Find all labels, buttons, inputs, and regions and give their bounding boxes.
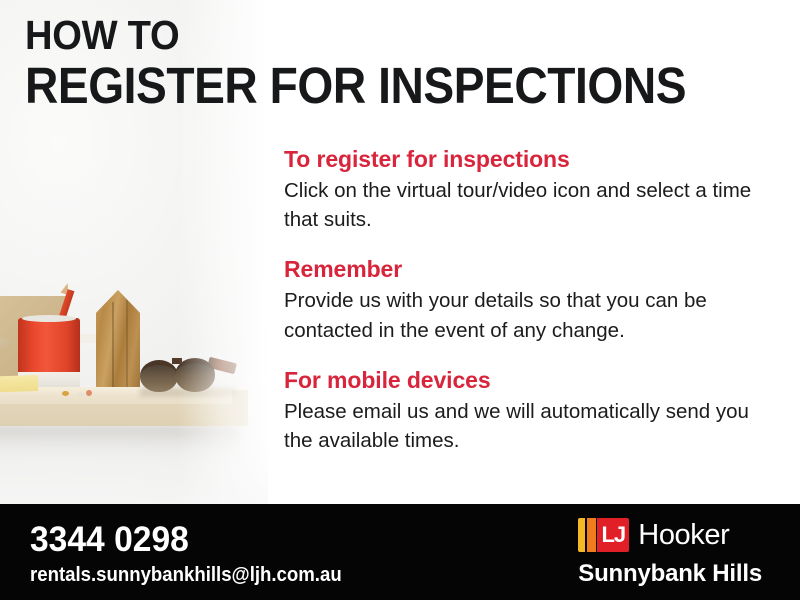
- instruction-section-register: To register for inspections Click on the…: [284, 146, 776, 234]
- section-body: Please email us and we will automaticall…: [284, 397, 776, 455]
- instructions-list: To register for inspections Click on the…: [284, 146, 776, 455]
- mug-rim-inner-icon: [22, 315, 76, 322]
- logo-bar-red-icon: LJ: [597, 518, 629, 552]
- section-heading: For mobile devices: [284, 367, 776, 394]
- shelf-trinket-icon: [78, 392, 84, 397]
- logo-bar-gold-icon: [578, 518, 585, 552]
- title-kicker: HOW TO: [25, 14, 704, 57]
- brand-office-name: Sunnybank Hills: [578, 562, 762, 586]
- lj-hooker-logo-icon: LJ: [578, 518, 629, 552]
- footer-bar: 3344 0298 rentals.sunnybankhills@ljh.com…: [0, 504, 800, 600]
- phone-number[interactable]: 3344 0298: [30, 522, 352, 557]
- logo-bar-orange-icon: [587, 518, 596, 552]
- instruction-section-remember: Remember Provide us with your details so…: [284, 256, 776, 344]
- section-body: Provide us with your details so that you…: [284, 286, 776, 344]
- brand-name: Hooker: [638, 521, 729, 550]
- shelf-trinket-icon: [86, 390, 92, 396]
- shelf-trinket-icon: [62, 391, 69, 396]
- brand-logo-row: LJ Hooker: [578, 518, 762, 552]
- section-body: Click on the virtual tour/video icon and…: [284, 176, 776, 234]
- page-title: HOW TO REGISTER FOR INSPECTIONS: [25, 14, 755, 112]
- sticky-note-icon: [0, 375, 38, 393]
- contact-details: 3344 0298 rentals.sunnybankhills@ljh.com…: [30, 522, 365, 585]
- section-heading: To register for inspections: [284, 146, 776, 173]
- wood-grain-line-icon: [112, 302, 114, 394]
- logo-initials: LJ: [597, 518, 629, 552]
- email-address[interactable]: rentals.sunnybankhills@ljh.com.au: [30, 565, 342, 585]
- wood-grain-line-icon: [126, 300, 128, 394]
- sunglasses-left-lens-icon: [140, 360, 178, 392]
- title-main: REGISTER FOR INSPECTIONS: [25, 60, 686, 112]
- poster-canvas: HOW TO REGISTER FOR INSPECTIONS To regis…: [0, 0, 800, 600]
- photo-bottom-fade: [0, 425, 268, 505]
- instruction-section-mobile: For mobile devices Please email us and w…: [284, 367, 776, 455]
- section-heading: Remember: [284, 256, 776, 283]
- brand-lockup: LJ Hooker Sunnybank Hills: [578, 518, 762, 586]
